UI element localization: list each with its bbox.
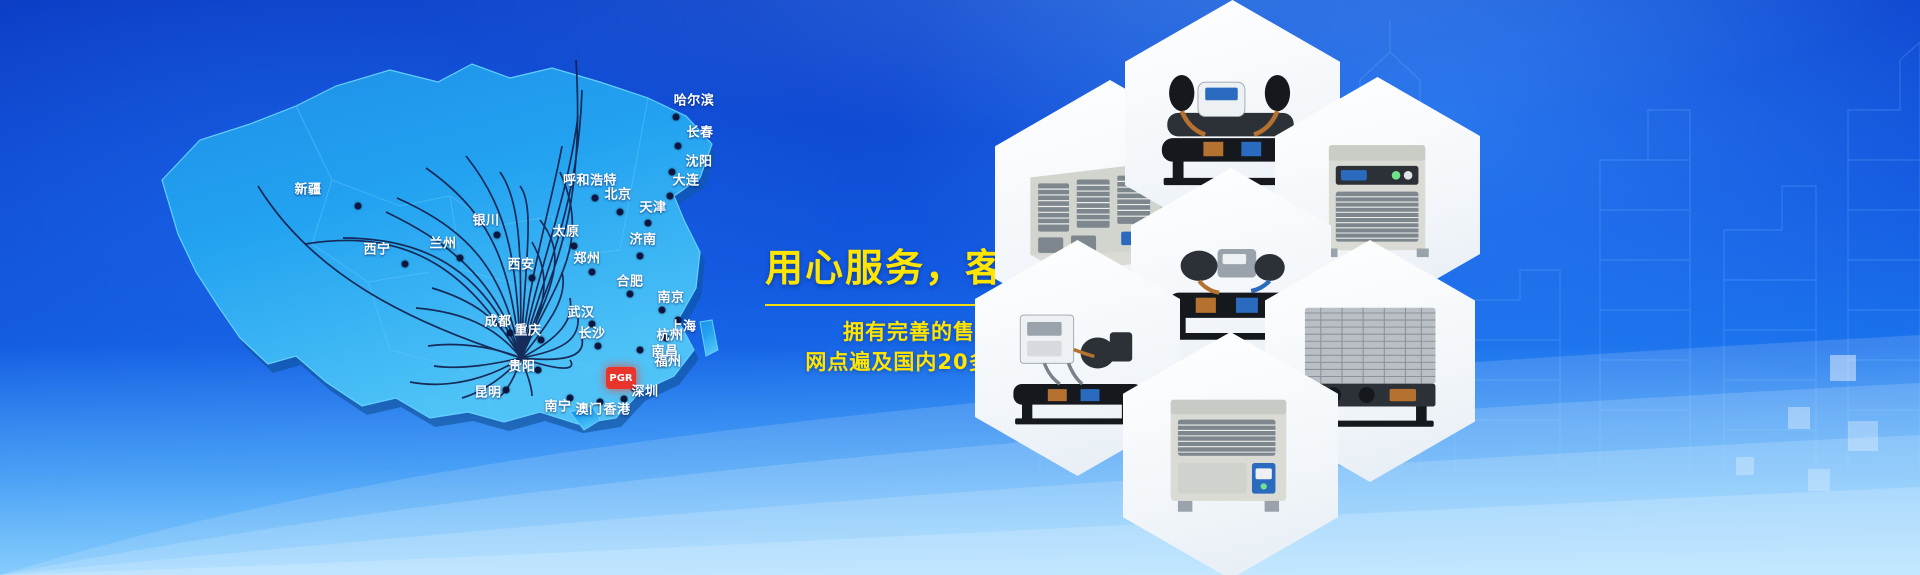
city-dot	[507, 330, 514, 337]
city-dot	[637, 347, 644, 354]
city-dot	[494, 232, 501, 239]
city-dot	[617, 209, 624, 216]
city-label-hefei: 合肥	[616, 271, 643, 290]
city-dot	[402, 261, 409, 268]
cabinet-water-chiller-image	[1140, 352, 1321, 559]
city-label-kunming: 昆明	[474, 382, 501, 401]
city-label-fuzhou: 福州	[654, 351, 681, 370]
city-label-chengdu: 成都	[484, 311, 511, 330]
city-label-xian: 西安	[507, 254, 534, 273]
city-dot	[667, 193, 674, 200]
city-dot	[673, 114, 680, 121]
city-label-lanzhou: 兰州	[429, 233, 456, 252]
promotional-banner: PGR 新疆 哈尔滨 长春 沈阳 呼和浩特 北京 天津 大连 银川 太原 兰州 …	[0, 0, 1920, 575]
city-dot	[659, 307, 666, 314]
city-dot	[529, 275, 536, 282]
city-label-harbin: 哈尔滨	[674, 90, 715, 109]
product-hexagon-grid	[955, 0, 1920, 575]
city-dot	[457, 255, 464, 262]
city-dot	[592, 195, 599, 202]
city-label-yinchuan: 银川	[472, 210, 499, 229]
city-label-changsha: 长沙	[578, 323, 605, 342]
city-label-xinjiang: 新疆	[294, 179, 321, 198]
city-dot	[645, 220, 652, 227]
city-dot	[627, 291, 634, 298]
city-label-shenzhen: 深圳	[631, 381, 658, 400]
city-label-nanjing: 南京	[657, 287, 684, 306]
city-label-changchun: 长春	[686, 122, 713, 141]
city-label-jinan: 济南	[629, 229, 656, 248]
city-label-wuhan: 武汉	[567, 302, 594, 321]
city-label-dalian: 大连	[672, 170, 699, 189]
city-label-tianjin: 天津	[639, 197, 666, 216]
china-distribution-map: PGR 新疆 哈尔滨 长春 沈阳 呼和浩特 北京 天津 大连 银川 太原 兰州 …	[100, 20, 740, 440]
city-dot	[535, 367, 542, 374]
city-dot	[355, 203, 362, 210]
city-label-chongqing: 重庆	[514, 320, 541, 339]
city-label-taiyuan: 太原	[552, 221, 579, 240]
city-dot	[503, 387, 510, 394]
city-label-macau: 澳门	[575, 399, 602, 418]
city-label-zhengzhou: 郑州	[573, 248, 600, 267]
city-dot	[637, 253, 644, 260]
city-label-nanning: 南宁	[544, 396, 571, 415]
city-dot	[589, 269, 596, 276]
city-label-xining: 西宁	[363, 239, 390, 258]
city-label-guiyang: 贵阳	[508, 356, 535, 375]
city-label-shenyang: 沈阳	[685, 151, 712, 170]
city-dot	[675, 143, 682, 150]
city-label-hongkong: 香港	[603, 399, 630, 418]
city-label-beijing: 北京	[604, 184, 631, 203]
city-dot	[595, 343, 602, 350]
